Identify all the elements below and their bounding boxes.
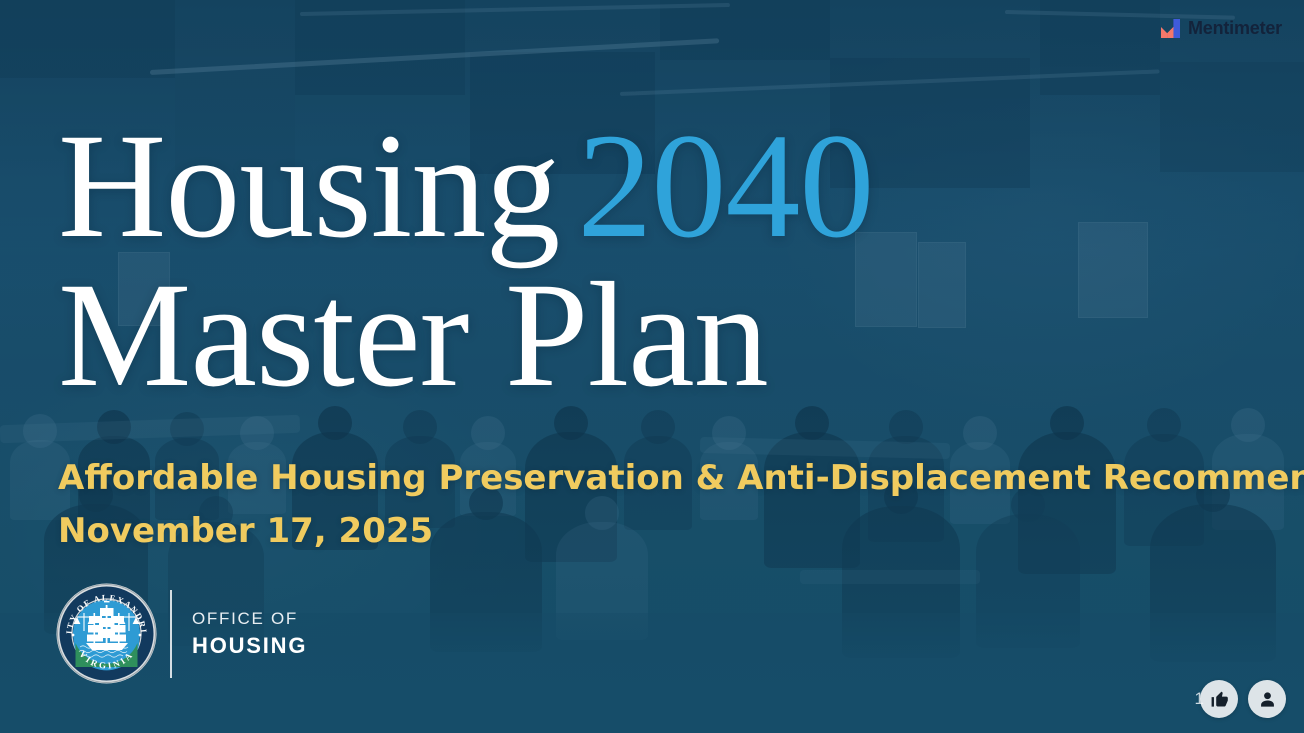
participants-button[interactable] [1248, 680, 1286, 718]
participant-icon [1258, 690, 1277, 709]
slide-subtitle-block: Affordable Housing Preservation & Anti-D… [58, 452, 1258, 557]
title-word-housing: Housing [58, 103, 559, 269]
city-of-alexandria-seal-icon: CITY OF ALEXANDRIA VIRGINIA [56, 583, 157, 684]
slide-title: Housing2040 Master Plan [58, 112, 1118, 409]
title-year-2040: 2040 [577, 103, 873, 269]
housing-label: HOUSING [192, 633, 307, 658]
title-line-2: Master Plan [58, 261, 1118, 410]
office-of-label: OFFICE OF [192, 609, 307, 629]
thumbs-up-icon [1210, 690, 1229, 709]
thumbs-up-button[interactable] [1200, 680, 1238, 718]
lockup-divider [170, 590, 172, 678]
slide-controls: 1 [1195, 680, 1286, 718]
mentimeter-mark-icon [1161, 19, 1180, 38]
subtitle-text: Affordable Housing Preservation & Anti-D… [58, 452, 1258, 505]
subtitle-date: November 17, 2025 [58, 505, 1258, 558]
presentation-slide: Mentimeter Housing2040 Master Plan Affor… [0, 0, 1304, 733]
mentimeter-logo: Mentimeter [1161, 18, 1282, 39]
mentimeter-wordmark: Mentimeter [1188, 18, 1282, 39]
lockup-text: OFFICE OF HOUSING [192, 609, 307, 658]
title-line-1: Housing2040 [58, 112, 1118, 261]
office-of-housing-lockup: CITY OF ALEXANDRIA VIRGINIA OFFICE OF HO… [56, 583, 307, 684]
